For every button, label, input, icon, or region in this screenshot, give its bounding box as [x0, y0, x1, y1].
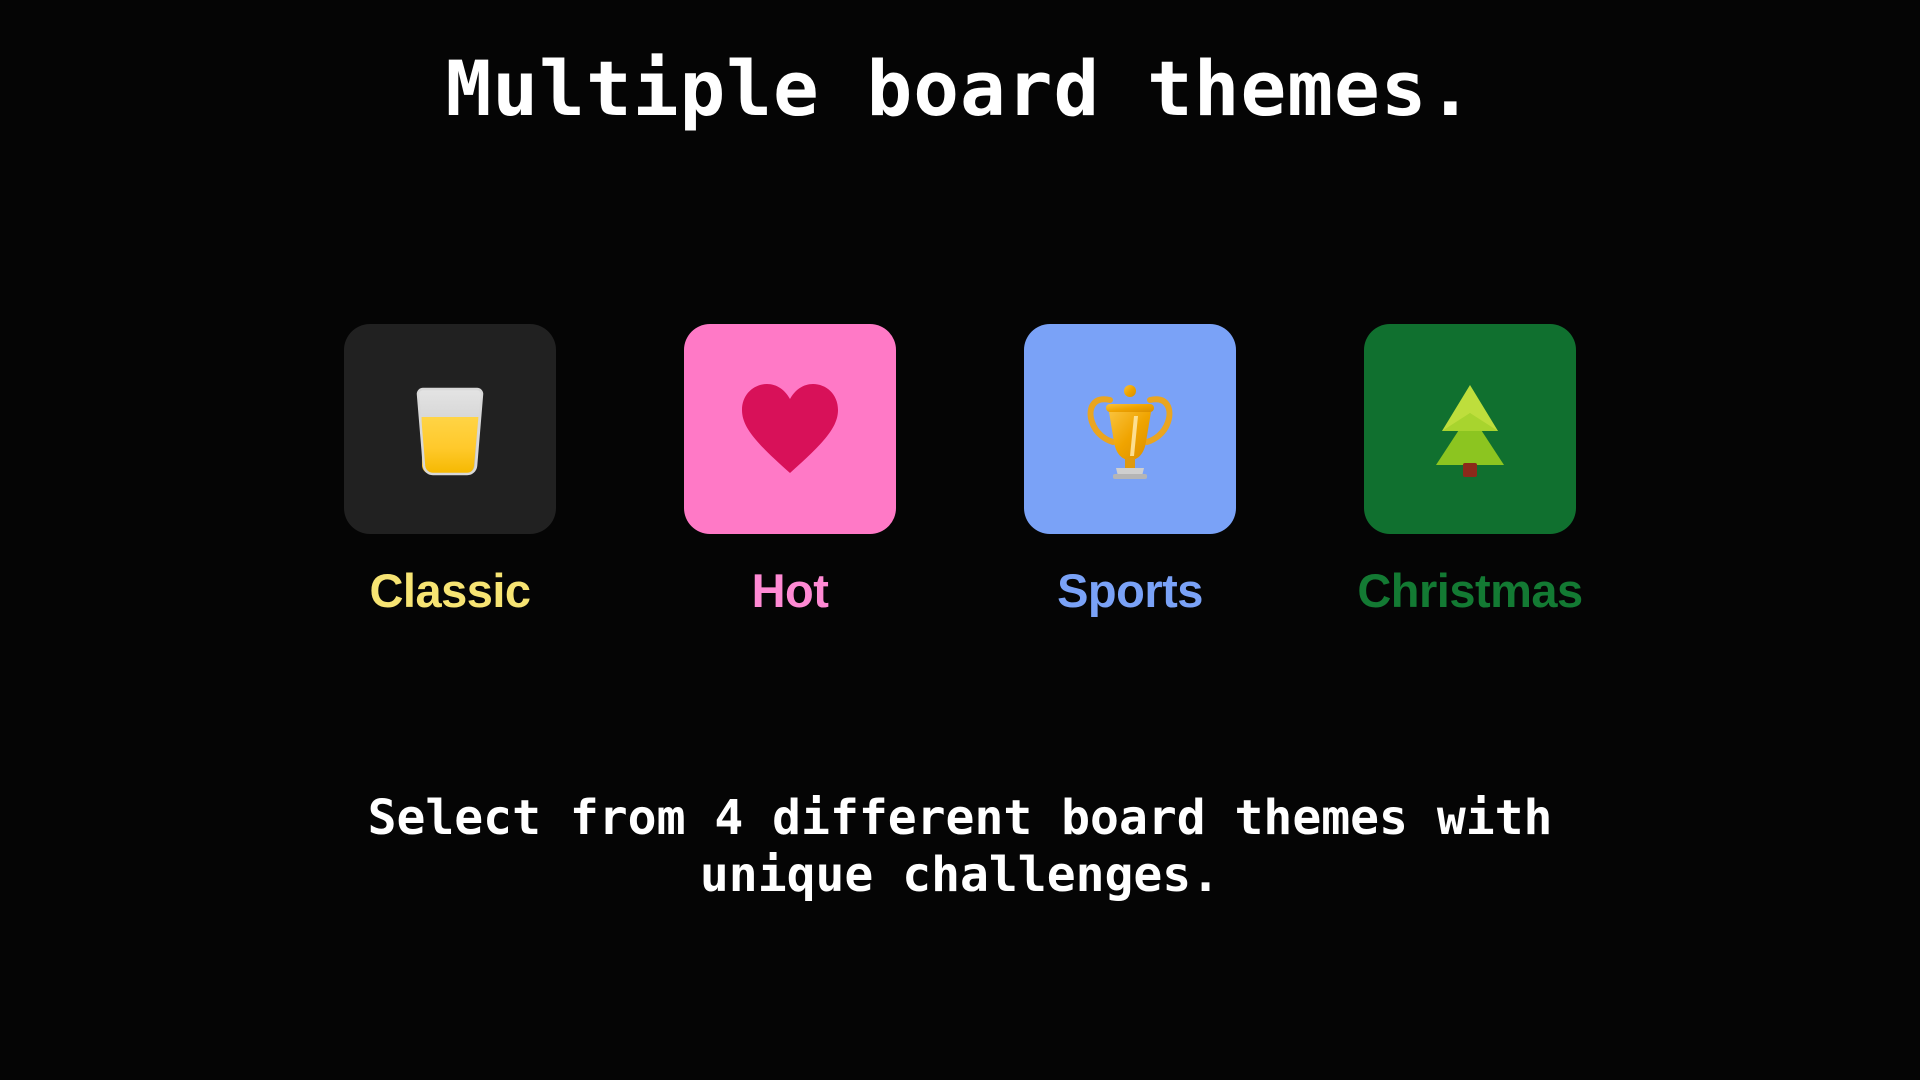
theme-option-list: Classic Hot: [344, 324, 1576, 614]
trophy-icon: [1080, 378, 1180, 480]
theme-label-hot: Hot: [752, 567, 829, 614]
theme-showcase-page: Multiple board themes.: [0, 0, 1920, 1080]
theme-tile-classic[interactable]: [344, 324, 556, 534]
description-line-1: Select from 4 different board themes wit…: [260, 790, 1660, 847]
page-title: Multiple board themes.: [446, 46, 1475, 131]
christmas-tree-icon: [1420, 379, 1520, 479]
description-line-2: unique challenges.: [260, 847, 1660, 904]
beer-glass-icon: [404, 379, 496, 479]
theme-tile-sports[interactable]: [1024, 324, 1236, 534]
theme-label-sports: Sports: [1057, 567, 1203, 614]
theme-label-christmas: Christmas: [1357, 567, 1582, 614]
theme-option-hot[interactable]: Hot: [684, 324, 896, 614]
heart-icon: [738, 381, 842, 477]
theme-option-classic[interactable]: Classic: [344, 324, 556, 614]
theme-label-classic: Classic: [369, 567, 530, 614]
page-description: Select from 4 different board themes wit…: [0, 790, 1920, 903]
theme-tile-christmas[interactable]: [1364, 324, 1576, 534]
theme-option-christmas[interactable]: Christmas: [1364, 324, 1576, 614]
theme-tile-hot[interactable]: [684, 324, 896, 534]
theme-option-sports[interactable]: Sports: [1024, 324, 1236, 614]
